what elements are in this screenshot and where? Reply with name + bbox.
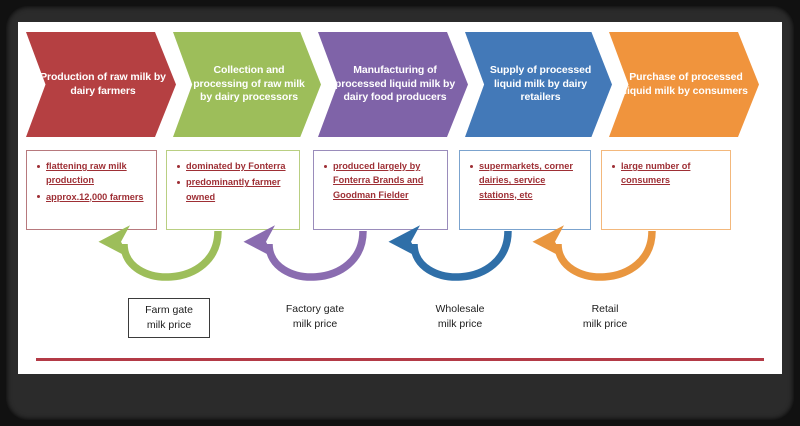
- price-label-line2: milk price: [420, 317, 500, 332]
- price-label-line1: Retail: [565, 302, 645, 317]
- screenshot-frame: Production of raw milk by dairy farmers …: [0, 0, 800, 426]
- price-label-farm-gate: Farm gate milk price: [128, 298, 210, 338]
- price-label-line2: milk price: [131, 318, 207, 333]
- farm-gate-arrow: [124, 231, 218, 277]
- wholesale-arrow: [414, 231, 508, 277]
- price-label-factory-gate: Factory gate milk price: [273, 298, 357, 336]
- price-label-line2: milk price: [565, 317, 645, 332]
- bottom-divider-rule: [36, 358, 764, 361]
- price-label-line1: Farm gate: [131, 303, 207, 318]
- price-label-line1: Wholesale: [420, 302, 500, 317]
- retail-arrow: [558, 231, 652, 277]
- diagram-canvas: Production of raw milk by dairy farmers …: [18, 22, 782, 374]
- price-label-line2: milk price: [275, 317, 355, 332]
- price-label-line1: Factory gate: [275, 302, 355, 317]
- price-label-wholesale: Wholesale milk price: [418, 298, 502, 336]
- factory-gate-arrow: [269, 231, 363, 277]
- price-label-retail: Retail milk price: [563, 298, 647, 336]
